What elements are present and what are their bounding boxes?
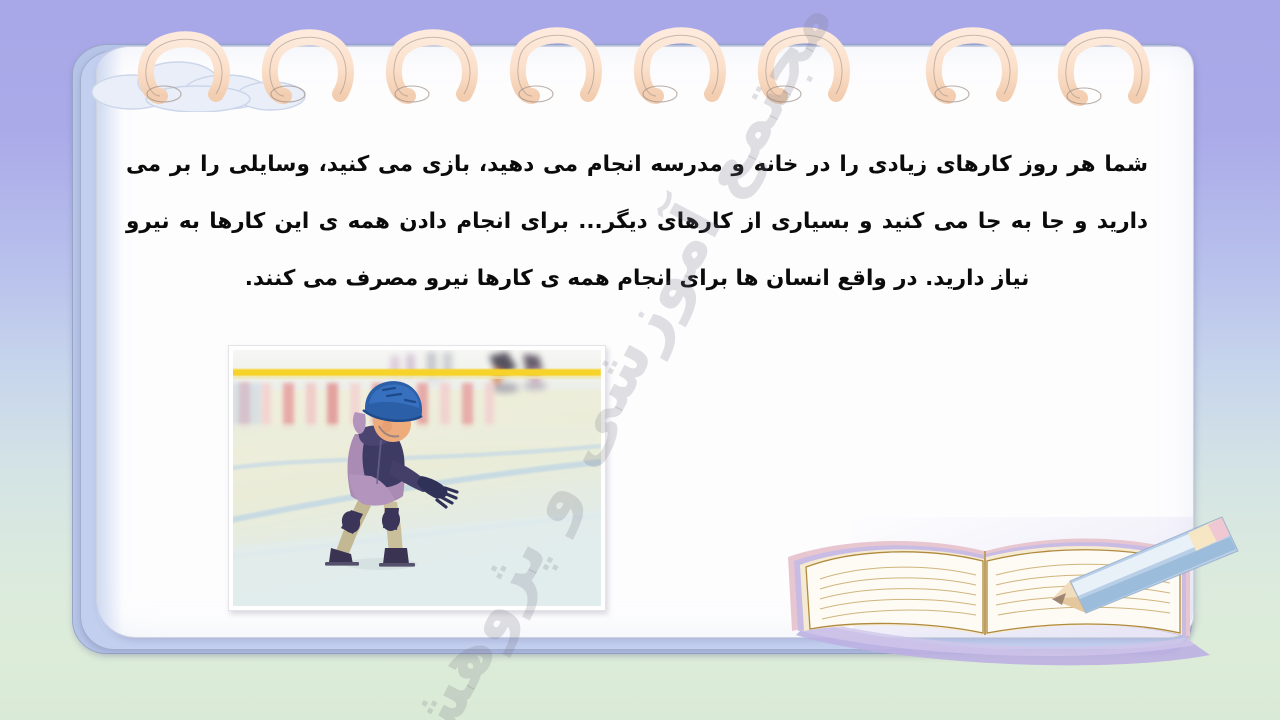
cloud-icon bbox=[86, 52, 326, 112]
photo-frame bbox=[228, 345, 606, 611]
child-ice-skating-photo bbox=[233, 350, 601, 606]
ice-rink-scene bbox=[233, 350, 601, 606]
page-corner-shading bbox=[853, 517, 1193, 637]
slide-canvas: شما هر روز کارهای زیادی را در خانه و مدر… bbox=[0, 0, 1280, 720]
body-paragraph: شما هر روز کارهای زیادی را در خانه و مدر… bbox=[126, 136, 1148, 307]
page-spine-shading bbox=[97, 47, 123, 637]
